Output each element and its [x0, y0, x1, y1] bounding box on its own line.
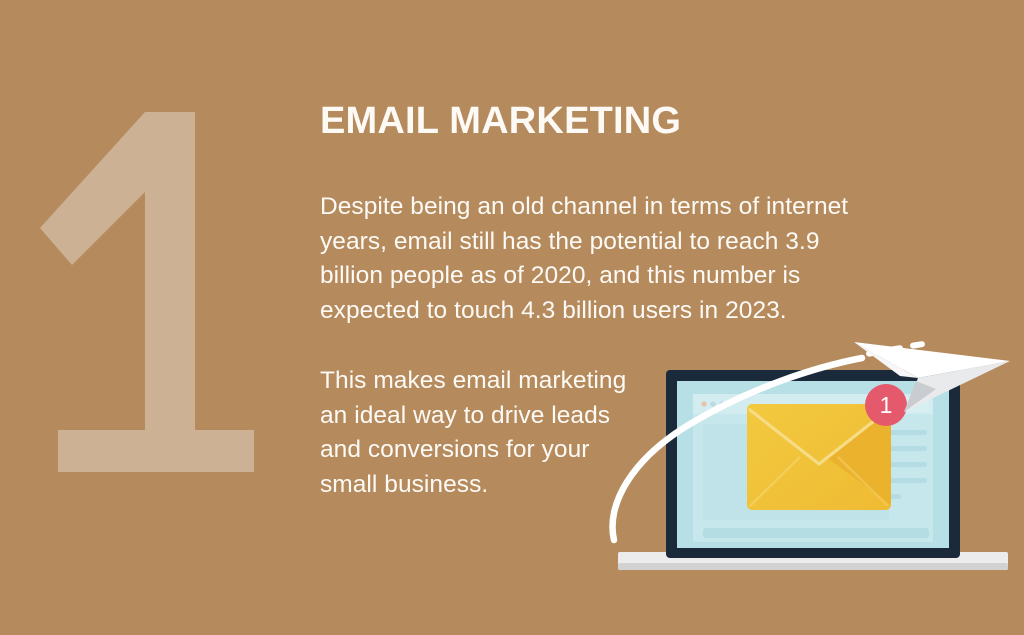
badge-count: 1 [880, 392, 893, 418]
window-dot-icon [710, 401, 715, 406]
laptop-email-illustration: 1 [600, 320, 1024, 582]
slide-canvas: 1 EMAIL MARKETING Despite being an old c… [0, 0, 1024, 635]
page-title: EMAIL MARKETING [320, 98, 880, 144]
illustration-svg: 1 [600, 320, 1024, 582]
body-paragraph-1: Despite being an old channel in terms of… [320, 190, 876, 328]
notification-badge[interactable]: 1 [865, 384, 907, 426]
envelope-icon [747, 404, 891, 510]
section-number-graphic: 1 [30, 100, 290, 480]
numeral-one-icon [30, 100, 290, 480]
window-dot-icon [701, 401, 706, 406]
